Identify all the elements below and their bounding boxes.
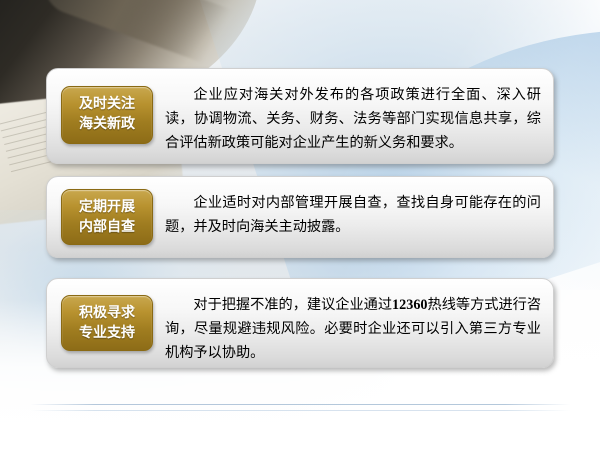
- block-2-text: 企业适时对内部管理开展自查，查找自身可能存在的问题，并及时向海关主动披露。: [165, 195, 541, 235]
- block-3-tag: 积极寻求 专业支持: [61, 295, 153, 351]
- block-1-text: 企业应对海关对外发布的各项政策进行全面、深入研读，协调物流、关务、财务、法务等部…: [165, 87, 541, 151]
- slide-canvas: 及时关注 海关新政 企业应对海关对外发布的各项政策进行全面、深入研读，协调物流、…: [0, 0, 600, 450]
- block-1-tag: 及时关注 海关新政: [61, 86, 153, 144]
- block-1-body: 企业应对海关对外发布的各项政策进行全面、深入研读，协调物流、关务、财务、法务等部…: [165, 83, 541, 155]
- block-3-body: 对于把握不准的，建议企业通过12360热线等方式进行咨询，尽量规避违规风险。必要…: [165, 293, 541, 365]
- content-block-2: 定期开展 内部自查 企业适时对内部管理开展自查，查找自身可能存在的问题，并及时向…: [46, 176, 554, 258]
- block-3-text-hotline: 12360: [392, 297, 427, 313]
- content-block-1: 及时关注 海关新政 企业应对海关对外发布的各项政策进行全面、深入研读，协调物流、…: [46, 68, 554, 164]
- block-2-tag: 定期开展 内部自查: [61, 189, 153, 245]
- divider-line-top: [30, 404, 570, 405]
- divider-line-bottom: [30, 410, 570, 411]
- block-3-text-prefix: 对于把握不准的，建议企业通过: [193, 297, 392, 313]
- block-2-tag-line-2: 内部自查: [62, 218, 152, 238]
- block-2-tag-line-1: 定期开展: [62, 198, 152, 218]
- block-1-tag-line-2: 海关新政: [62, 115, 152, 135]
- content-block-3: 积极寻求 专业支持 对于把握不准的，建议企业通过12360热线等方式进行咨询，尽…: [46, 278, 554, 368]
- block-2-body: 企业适时对内部管理开展自查，查找自身可能存在的问题，并及时向海关主动披露。: [165, 191, 541, 239]
- block-1-tag-line-1: 及时关注: [62, 95, 152, 115]
- block-3-tag-line-2: 专业支持: [62, 324, 152, 344]
- block-3-tag-line-1: 积极寻求: [62, 304, 152, 324]
